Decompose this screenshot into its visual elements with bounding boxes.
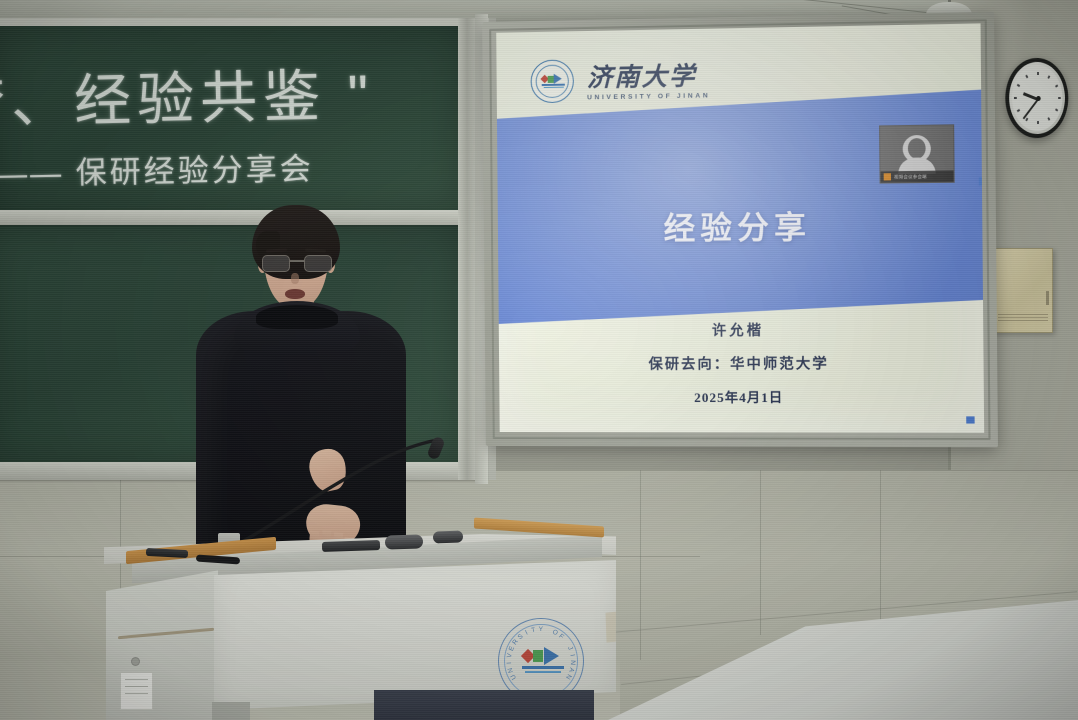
slide-footer: 许允楷 保研去向：华中师范大学 2025年4月1日 <box>499 319 984 406</box>
slide-presenter-name: 许允楷 <box>499 319 984 341</box>
clock-center-cap <box>1036 95 1040 100</box>
meeting-status-chip <box>884 173 891 180</box>
desk-object-control[interactable] <box>433 530 463 543</box>
presentation-slide: 济南大学 UNIVERSITY OF JINAN 经验分享 许允楷 保研去向：华… <box>496 23 984 432</box>
wall-tile-seam <box>760 470 761 635</box>
clock-minute-hand <box>1022 98 1038 119</box>
slide-corner-marker <box>966 416 974 423</box>
slide-title: 经验分享 <box>498 200 983 250</box>
slide-date: 2025年4月1日 <box>499 387 984 406</box>
podium-lower-cabinet <box>374 690 594 720</box>
slide-destination: 保研去向：华中师范大学 <box>499 353 984 374</box>
meeting-thumbnail-bar: 视频会议参会端 <box>881 170 954 182</box>
classroom-scene: 梦、经验共鉴 " —— 保研经验分享会 <box>0 0 1078 720</box>
wall-tile-seam <box>880 470 881 620</box>
podium-label-plate <box>120 672 153 710</box>
meeting-thumbnail[interactable]: 视频会议参会端 <box>879 124 955 183</box>
blackboard-headline: 梦、经验共鉴 " <box>0 50 375 141</box>
presenter-nose <box>291 273 299 284</box>
panel-vent-lines <box>998 314 1048 326</box>
screen-frame: 济南大学 UNIVERSITY OF JINAN 经验分享 许允楷 保研去向：华… <box>482 12 998 447</box>
seal-mark-icon <box>542 74 565 88</box>
glasses-icon <box>261 255 333 272</box>
podium-lock-knob[interactable] <box>132 658 139 665</box>
blackboard-post <box>458 18 476 480</box>
university-logo: 济南大学 UNIVERSITY OF JINAN <box>530 57 710 103</box>
blackboard-subline: —— 保研经验分享会 <box>0 143 314 194</box>
clock-face <box>1012 64 1062 132</box>
wall-tile-seam <box>640 470 641 660</box>
wall-access-panel[interactable] <box>993 248 1053 333</box>
slide-edge-marker <box>979 177 984 185</box>
podium-leg <box>212 702 250 720</box>
logo-chinese-name: 济南大学 <box>587 64 710 91</box>
panel-handle-icon <box>1046 291 1049 305</box>
podium-front-panel: UNIVERSITYOFJINAN <box>214 560 616 710</box>
projection-screen: 济南大学 UNIVERSITY OF JINAN 经验分享 许允楷 保研去向：华… <box>482 12 998 447</box>
logo-english-name: UNIVERSITY OF JINAN <box>587 94 710 103</box>
uoj-seal-icon <box>530 59 574 103</box>
meeting-avatar-cutout <box>908 138 926 159</box>
presenter <box>188 205 418 555</box>
desk-object-remote[interactable] <box>322 540 380 552</box>
podium-groove <box>118 628 214 639</box>
podium-left-side <box>106 560 218 720</box>
logo-text-block: 济南大学 UNIVERSITY OF JINAN <box>587 64 711 102</box>
presenter-hood-opening <box>256 305 338 329</box>
desk-object-control[interactable] <box>385 534 423 549</box>
meeting-label: 视频会议参会端 <box>894 173 927 180</box>
presenter-mouth <box>285 289 305 299</box>
